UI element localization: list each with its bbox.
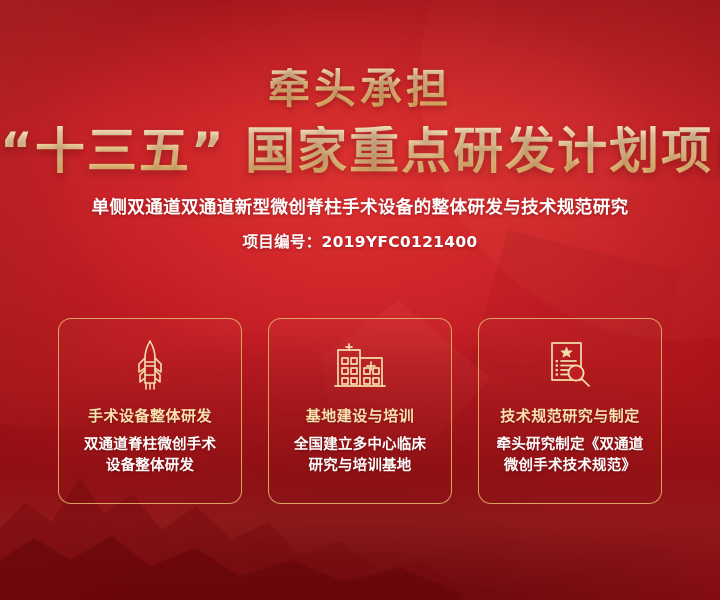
card-body-line: 微创手术技术规范》 — [497, 456, 644, 477]
document-magnifier-icon — [545, 339, 595, 391]
card-surgical-equipment[interactable]: 手术设备整体研发 双通道脊柱微创手术 设备整体研发 — [58, 318, 242, 504]
card-technical-standards[interactable]: 技术规范研究与制定 牵头研究制定《双通道 微创手术技术规范》 — [478, 318, 662, 504]
rocket-icon — [133, 339, 167, 391]
page-title: “十三五” 国家重点研发计划项目 — [0, 126, 720, 176]
card-base-construction-training[interactable]: 基地建设与培训 全国建立多中心临床 研究与培训基地 — [268, 318, 452, 504]
card-title: 手术设备整体研发 — [88, 405, 212, 426]
card-body-line: 研究与培训基地 — [294, 456, 426, 477]
card-title: 基地建设与培训 — [306, 405, 415, 426]
card-body-line: 全国建立多中心临床 — [294, 435, 426, 456]
card-title: 技术规范研究与制定 — [500, 405, 640, 426]
project-number: 项目编号：2019YFC0121400 — [0, 235, 720, 251]
card-body-line: 牵头研究制定《双通道 — [497, 435, 644, 456]
subtitle: 单侧双通道双通道新型微创脊柱手术设备的整体研发与技术规范研究 — [0, 200, 720, 218]
lead-title: 牵头承担 — [0, 68, 720, 110]
card-list: 手术设备整体研发 双通道脊柱微创手术 设备整体研发 — [58, 318, 662, 504]
headings-block: 牵头承担 “十三五” 国家重点研发计划项目 单侧双通道双通道新型微创脊柱手术设备… — [0, 68, 720, 250]
hospital-building-icon — [334, 339, 386, 391]
card-body-line: 设备整体研发 — [84, 456, 216, 477]
card-body: 牵头研究制定《双通道 微创手术技术规范》 — [497, 435, 644, 476]
card-body: 全国建立多中心临床 研究与培训基地 — [294, 435, 426, 476]
card-body-line: 双通道脊柱微创手术 — [84, 435, 216, 456]
card-body: 双通道脊柱微创手术 设备整体研发 — [84, 435, 216, 476]
banner-root: 牵头承担 “十三五” 国家重点研发计划项目 单侧双通道双通道新型微创脊柱手术设备… — [0, 0, 720, 600]
